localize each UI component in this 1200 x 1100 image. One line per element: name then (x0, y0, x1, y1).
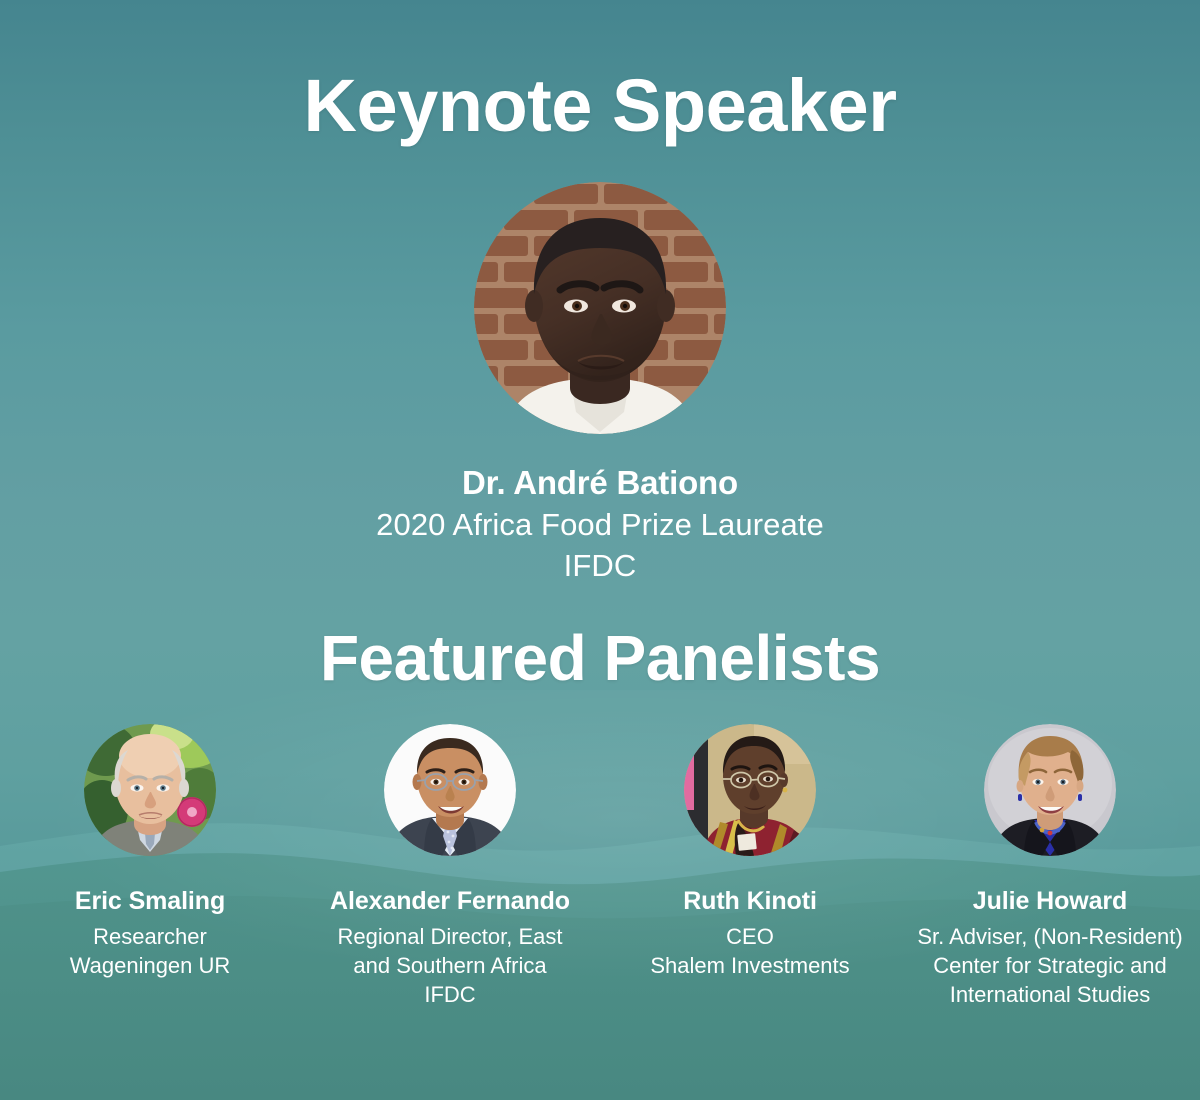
panelist-photo (84, 724, 216, 856)
panelist-portrait-eric-smaling-icon (84, 724, 216, 856)
panelist-line: Wageningen UR (70, 951, 231, 980)
panelist-line: Researcher (70, 922, 231, 951)
panelists-row: Eric Smaling Researcher Wageningen UR (0, 724, 1200, 1009)
panelist-line: and Southern Africa (338, 951, 563, 980)
panelist-portrait-julie-howard-icon (984, 724, 1116, 856)
panelist-affiliation: CEO Shalem Investments (644, 922, 855, 980)
keynote-speaker-title: 2020 Africa Food Prize Laureate (0, 504, 1200, 545)
featured-panelists-heading: Featured Panelists (0, 621, 1200, 695)
panelist-photo (684, 724, 816, 856)
panelist-line: Center for Strategic and (917, 951, 1182, 980)
panelist-card: Julie Howard Sr. Adviser, (Non-Resident)… (900, 724, 1200, 1009)
panelist-line: Sr. Adviser, (Non-Resident) (917, 922, 1182, 951)
panelist-line: International Studies (917, 980, 1182, 1009)
panelist-portrait-ruth-kinoti-icon (684, 724, 816, 856)
keynote-text-block: Dr. André Bationo 2020 Africa Food Prize… (0, 462, 1200, 586)
panelist-card: Ruth Kinoti CEO Shalem Investments (600, 724, 900, 1009)
keynote-portrait-icon (474, 182, 726, 434)
panelist-affiliation: Sr. Adviser, (Non-Resident) Center for S… (911, 922, 1188, 1009)
panelist-affiliation: Regional Director, East and Southern Afr… (332, 922, 569, 1009)
panelist-line: Regional Director, East (338, 922, 563, 951)
keynote-photo (474, 182, 726, 434)
panelist-line: Shalem Investments (650, 951, 849, 980)
panelist-line: IFDC (338, 980, 563, 1009)
panelist-name: Ruth Kinoti (683, 886, 817, 916)
keynote-speaker-name: Dr. André Bationo (0, 462, 1200, 504)
keynote-speaker-organization: IFDC (0, 545, 1200, 586)
keynote-heading: Keynote Speaker (0, 64, 1200, 148)
panelist-line: CEO (650, 922, 849, 951)
panelist-card: Alexander Fernando Regional Director, Ea… (300, 724, 600, 1009)
panelist-name: Julie Howard (973, 886, 1127, 916)
panelist-card: Eric Smaling Researcher Wageningen UR (0, 724, 300, 1009)
poster-canvas: Keynote Speaker (0, 0, 1200, 1100)
panelist-photo (384, 724, 516, 856)
panelist-name: Eric Smaling (75, 886, 225, 916)
panelist-photo (984, 724, 1116, 856)
panelist-name: Alexander Fernando (330, 886, 570, 916)
panelist-affiliation: Researcher Wageningen UR (64, 922, 237, 980)
panelist-portrait-alexander-fernando-icon (384, 724, 516, 856)
